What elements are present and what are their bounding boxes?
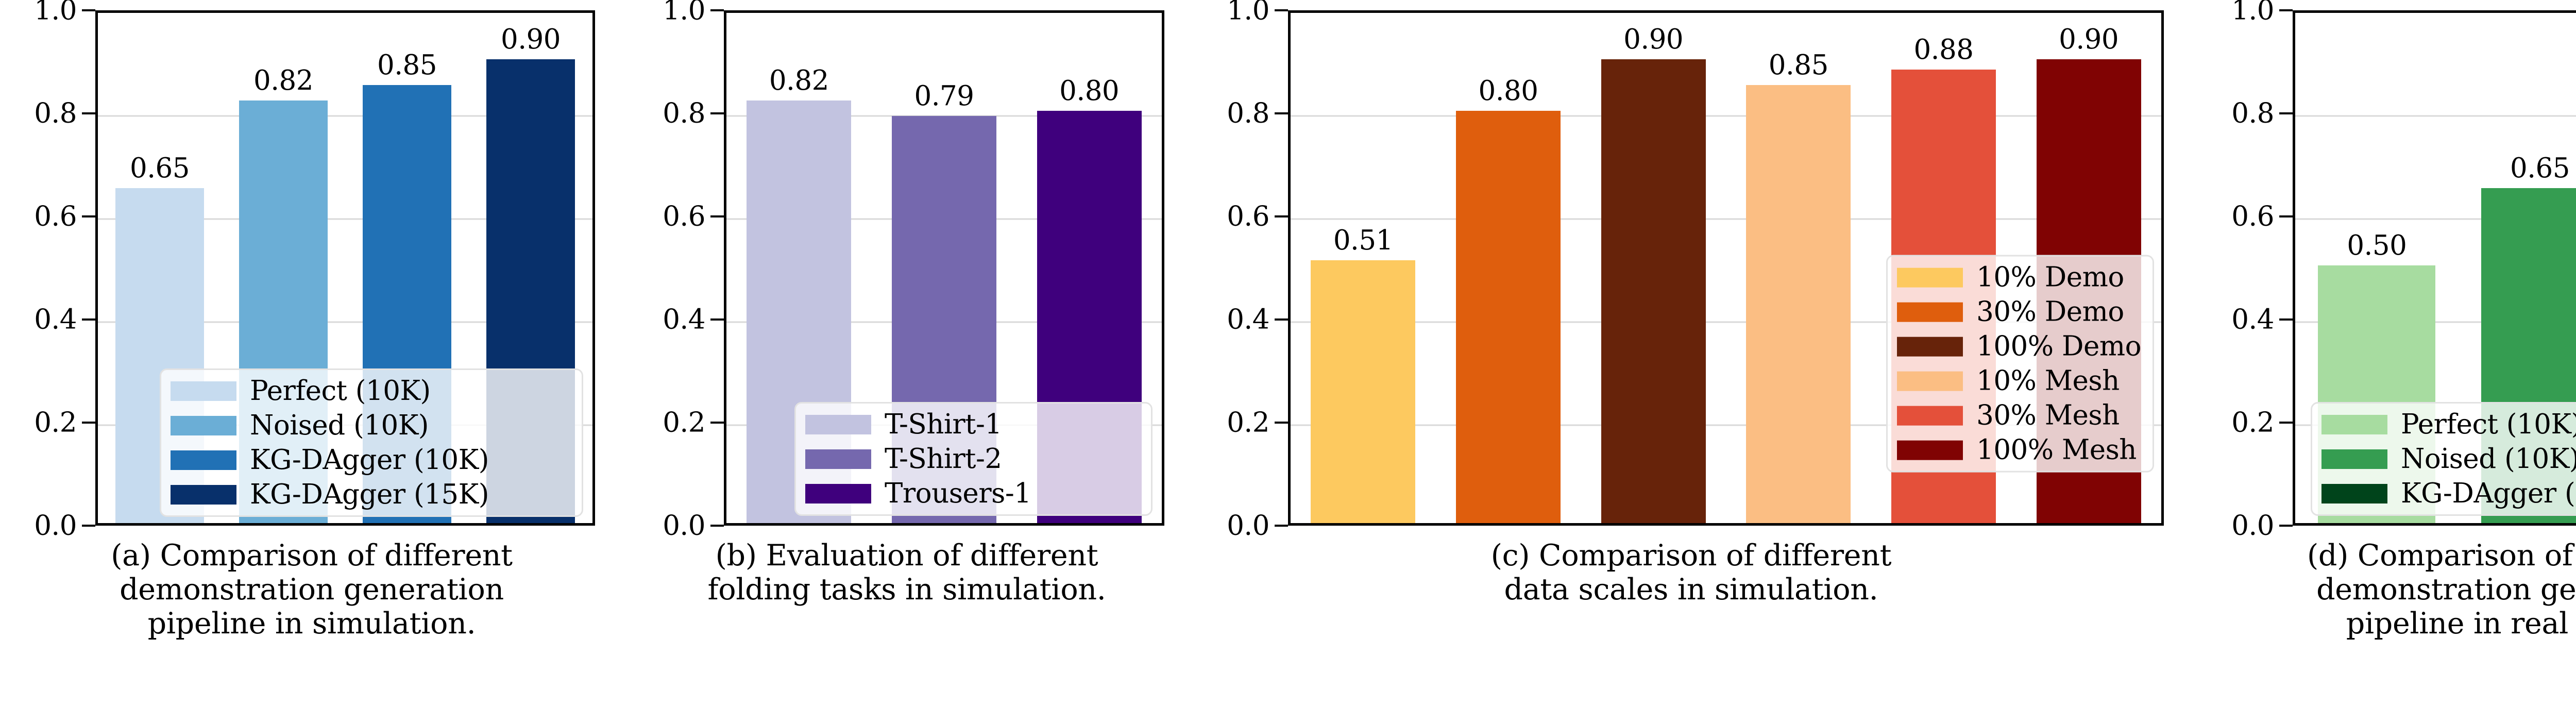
panel-a-ytick-mark xyxy=(82,525,95,527)
legend-item-noised-10k[interactable]: Noised (10K) xyxy=(171,412,570,439)
legend-item-perfect-10k[interactable]: Perfect (10K) xyxy=(171,377,570,405)
panel-a-ytick-label: 1.0 xyxy=(34,0,77,24)
legend-item-kg-dagger-15k[interactable]: KG-DAgger (15K) xyxy=(171,481,570,508)
panel-b-ytick-label: 0.0 xyxy=(663,512,705,540)
legend-label: KG-DAgger (10K) xyxy=(250,446,489,474)
legend-label: Trousers-1 xyxy=(885,480,1031,507)
legend-item-10-mesh[interactable]: 10% Mesh xyxy=(1897,367,2141,395)
legend-label: T-Shirt-2 xyxy=(885,445,1002,473)
legend-label: T-Shirt-1 xyxy=(885,411,1002,438)
panel-c-legend: 10% Demo30% Demo100% Demo10% Mesh30% Mes… xyxy=(1886,255,2154,473)
legend-item-t-shirt-2[interactable]: T-Shirt-2 xyxy=(805,445,1140,473)
panel-a-ytick-mark xyxy=(82,112,95,114)
legend-swatch-icon xyxy=(2321,484,2387,503)
legend-swatch-icon xyxy=(1897,267,1963,287)
panel-a: 0.00.20.40.60.81.0 0.650.820.850.90 Perf… xyxy=(0,0,623,705)
panel-c-ytick-mark xyxy=(1275,318,1288,321)
legend-label: Perfect (10K) xyxy=(2401,411,2576,438)
panel-b-axes: 0.00.20.40.60.81.0 0.820.790.80 T-Shirt-… xyxy=(623,0,1190,705)
panel-d-ytick-label: 0.0 xyxy=(2231,512,2274,540)
legend-label: 10% Mesh xyxy=(1976,367,2120,395)
legend-label: Perfect (10K) xyxy=(250,377,431,405)
panel-c-ytick-label: 0.0 xyxy=(1227,512,1269,540)
panel-a-bar-value-label: 0.82 xyxy=(253,67,313,94)
panel-b-plot-area: 0.820.790.80 T-Shirt-1T-Shirt-2Trousers-… xyxy=(724,10,1164,526)
panel-d-axes: 0.00.20.40.60.81.0 0.500.650.75 Perfect … xyxy=(2192,0,2576,705)
legend-item-30-demo[interactable]: 30% Demo xyxy=(1897,298,2141,326)
legend-swatch-icon xyxy=(1897,440,1963,460)
panel-c-ytick-label: 0.4 xyxy=(1227,306,1269,333)
legend-item-noised-10k[interactable]: Noised (10K) xyxy=(2321,445,2576,473)
panel-a-ytick-mark xyxy=(82,318,95,321)
panel-c-ytick-label: 0.6 xyxy=(1227,203,1269,230)
panel-c-caption-line: data scales in simulation. xyxy=(1190,573,2192,607)
panel-b-ytick-mark xyxy=(710,525,724,527)
legend-label: Noised (10K) xyxy=(250,412,429,439)
panel-b-bar-value-label: 0.79 xyxy=(914,82,974,110)
legend-label: 30% Mesh xyxy=(1976,402,2120,429)
legend-label: 30% Demo xyxy=(1976,298,2124,326)
panel-b-ytick-label: 1.0 xyxy=(663,0,705,24)
legend-item-10-demo[interactable]: 10% Demo xyxy=(1897,264,2141,291)
panel-d-ytick-label: 0.4 xyxy=(2231,306,2274,333)
panel-c-ytick-label: 0.2 xyxy=(1227,409,1269,437)
panel-b: 0.00.20.40.60.81.0 0.820.790.80 T-Shirt-… xyxy=(623,0,1190,705)
panel-c-ytick-mark xyxy=(1275,422,1288,424)
panel-c-bar-value-label: 0.85 xyxy=(1769,52,1828,79)
panel-d-plot-area: 0.500.650.75 Perfect (10K)Noised (10K)KG… xyxy=(2293,10,2576,526)
panel-d-ytick-mark xyxy=(2279,9,2293,11)
panel-d-ytick-mark xyxy=(2279,525,2293,527)
panel-c-ytick-mark xyxy=(1275,525,1288,527)
panel-a-ytick-label: 0.0 xyxy=(34,512,77,540)
panel-a-ytick-label: 0.2 xyxy=(34,409,77,437)
legend-swatch-icon xyxy=(1897,371,1963,391)
panel-c-bar[interactable] xyxy=(1311,260,1415,523)
legend-swatch-icon xyxy=(805,484,871,503)
panel-a-ytick-label: 0.6 xyxy=(34,203,77,230)
panel-b-ytick-mark xyxy=(710,422,724,424)
panel-d-caption-line: demonstration generation xyxy=(2192,573,2576,607)
panel-c-bar-slot: 0.90 xyxy=(1581,13,1726,523)
panel-b-ytick-label: 0.4 xyxy=(663,306,705,333)
panel-b-legend: T-Shirt-1T-Shirt-2Trousers-1 xyxy=(794,402,1153,516)
panel-a-ytick-mark xyxy=(82,422,95,424)
legend-label: KG-DAgger (15K) xyxy=(2401,480,2576,507)
legend-item-kg-dagger-10k[interactable]: KG-DAgger (10K) xyxy=(171,446,570,474)
legend-item-100-mesh[interactable]: 100% Mesh xyxy=(1897,437,2141,464)
panel-b-ytick-label: 0.2 xyxy=(663,409,705,437)
panel-d-ytick-mark xyxy=(2279,318,2293,321)
panel-b-ytick-mark xyxy=(710,318,724,321)
panel-a-axes: 0.00.20.40.60.81.0 0.650.820.850.90 Perf… xyxy=(0,0,623,705)
panel-c-ytick-label: 0.8 xyxy=(1227,100,1269,127)
figure-panel-grid: 0.00.20.40.60.81.0 0.650.820.850.90 Perf… xyxy=(0,0,2576,705)
legend-item-t-shirt-1[interactable]: T-Shirt-1 xyxy=(805,411,1140,438)
panel-c-bar[interactable] xyxy=(1746,85,1851,523)
legend-item-100-demo[interactable]: 100% Demo xyxy=(1897,333,2141,360)
panel-c-bar-value-label: 0.90 xyxy=(1623,26,1683,53)
panel-d-ytick-mark xyxy=(2279,422,2293,424)
panel-c-plot-area: 0.510.800.900.850.880.90 10% Demo30% Dem… xyxy=(1288,10,2164,526)
panel-d-ytick-label: 0.8 xyxy=(2231,100,2274,127)
legend-swatch-icon xyxy=(171,485,236,505)
legend-label: KG-DAgger (15K) xyxy=(250,481,489,508)
legend-label: 10% Demo xyxy=(1976,264,2124,291)
panel-d: 0.00.20.40.60.81.0 0.500.650.75 Perfect … xyxy=(2192,0,2576,705)
legend-label: 100% Demo xyxy=(1976,333,2141,360)
panel-a-bar-value-label: 0.85 xyxy=(377,52,437,79)
panel-b-bar-value-label: 0.80 xyxy=(1059,77,1119,105)
panel-c-bar[interactable] xyxy=(1601,59,1706,523)
legend-item-trousers-1[interactable]: Trousers-1 xyxy=(805,480,1140,507)
panel-d-ytick-label: 0.2 xyxy=(2231,409,2274,437)
panel-a-ytick-mark xyxy=(82,9,95,11)
panel-c-bar-slot: 0.51 xyxy=(1291,13,1436,523)
legend-label: Noised (10K) xyxy=(2401,445,2576,473)
panel-b-ytick-label: 0.8 xyxy=(663,100,705,127)
panel-a-caption-line: demonstration generation xyxy=(0,573,623,607)
panel-d-ytick-label: 1.0 xyxy=(2231,0,2274,24)
legend-swatch-icon xyxy=(171,416,236,435)
legend-label: 100% Mesh xyxy=(1976,437,2137,464)
panel-b-bar-value-label: 0.82 xyxy=(769,67,829,94)
panel-a-bar-value-label: 0.65 xyxy=(130,155,190,182)
panel-a-legend: Perfect (10K)Noised (10K)KG-DAgger (10K)… xyxy=(160,368,583,517)
panel-c-ytick-mark xyxy=(1275,215,1288,217)
legend-swatch-icon xyxy=(805,415,871,434)
legend-swatch-icon xyxy=(1897,302,1963,322)
panel-b-caption: (b) Evaluation of differentfolding tasks… xyxy=(623,539,1190,607)
panel-a-ytick-label: 0.8 xyxy=(34,100,77,127)
legend-swatch-icon xyxy=(1897,406,1963,425)
legend-swatch-icon xyxy=(805,449,871,469)
panel-c-bar-value-label: 0.51 xyxy=(1333,227,1393,254)
legend-swatch-icon xyxy=(171,450,236,470)
panel-c-bar-value-label: 0.80 xyxy=(1478,77,1538,105)
legend-item-30-mesh[interactable]: 30% Mesh xyxy=(1897,402,2141,429)
panel-d-ytick-mark xyxy=(2279,215,2293,217)
panel-b-caption-line: folding tasks in simulation. xyxy=(623,573,1190,607)
panel-c-bar-slot: 0.85 xyxy=(1726,13,1871,523)
panel-c-bar[interactable] xyxy=(1456,111,1561,523)
panel-c-bar-slot: 0.80 xyxy=(1436,13,1581,523)
panel-a-ytick-mark xyxy=(82,215,95,217)
panel-d-ytick-mark xyxy=(2279,112,2293,114)
panel-d-legend: Perfect (10K)Noised (10K)KG-DAgger (15K) xyxy=(2311,402,2576,516)
legend-item-kg-dagger-15k[interactable]: KG-DAgger (15K) xyxy=(2321,480,2576,507)
panel-a-caption-line: (a) Comparison of different xyxy=(0,539,623,573)
panel-d-caption: (d) Comparison of differentdemonstration… xyxy=(2192,539,2576,641)
panel-a-caption-line: pipeline in simulation. xyxy=(0,607,623,641)
panel-d-bar-value-label: 0.65 xyxy=(2510,155,2570,182)
panel-c-bar-value-label: 0.90 xyxy=(2059,26,2119,53)
panel-c-ytick-mark xyxy=(1275,112,1288,114)
panel-d-caption-line: pipeline in real world. xyxy=(2192,607,2576,641)
panel-c-caption: (c) Comparison of differentdata scales i… xyxy=(1190,539,2192,607)
panel-d-caption-line: (d) Comparison of different xyxy=(2192,539,2576,573)
panel-a-bar-value-label: 0.90 xyxy=(501,26,561,53)
panel-c-caption-line: (c) Comparison of different xyxy=(1190,539,2192,573)
panel-b-ytick-mark xyxy=(710,112,724,114)
legend-swatch-icon xyxy=(2321,415,2387,434)
legend-swatch-icon xyxy=(1897,337,1963,356)
panel-b-ytick-mark xyxy=(710,9,724,11)
legend-item-perfect-10k[interactable]: Perfect (10K) xyxy=(2321,411,2576,438)
panel-c-axes: 0.00.20.40.60.81.0 0.510.800.900.850.880… xyxy=(1190,0,2192,705)
panel-d-ytick-label: 0.6 xyxy=(2231,203,2274,230)
legend-swatch-icon xyxy=(171,381,236,401)
panel-c-bar-value-label: 0.88 xyxy=(1913,36,1973,63)
panel-a-caption: (a) Comparison of differentdemonstration… xyxy=(0,539,623,641)
panel-c-ytick-label: 1.0 xyxy=(1227,0,1269,24)
panel-d-bar-value-label: 0.50 xyxy=(2347,232,2406,259)
panel-a-plot-area: 0.650.820.850.90 Perfect (10K)Noised (10… xyxy=(95,10,595,526)
panel-c-ytick-mark xyxy=(1275,9,1288,11)
panel-c: 0.00.20.40.60.81.0 0.510.800.900.850.880… xyxy=(1190,0,2192,705)
legend-swatch-icon xyxy=(2321,449,2387,469)
panel-b-ytick-label: 0.6 xyxy=(663,203,705,230)
panel-b-caption-line: (b) Evaluation of different xyxy=(623,539,1190,573)
panel-a-ytick-label: 0.4 xyxy=(34,306,77,333)
panel-b-ytick-mark xyxy=(710,215,724,217)
